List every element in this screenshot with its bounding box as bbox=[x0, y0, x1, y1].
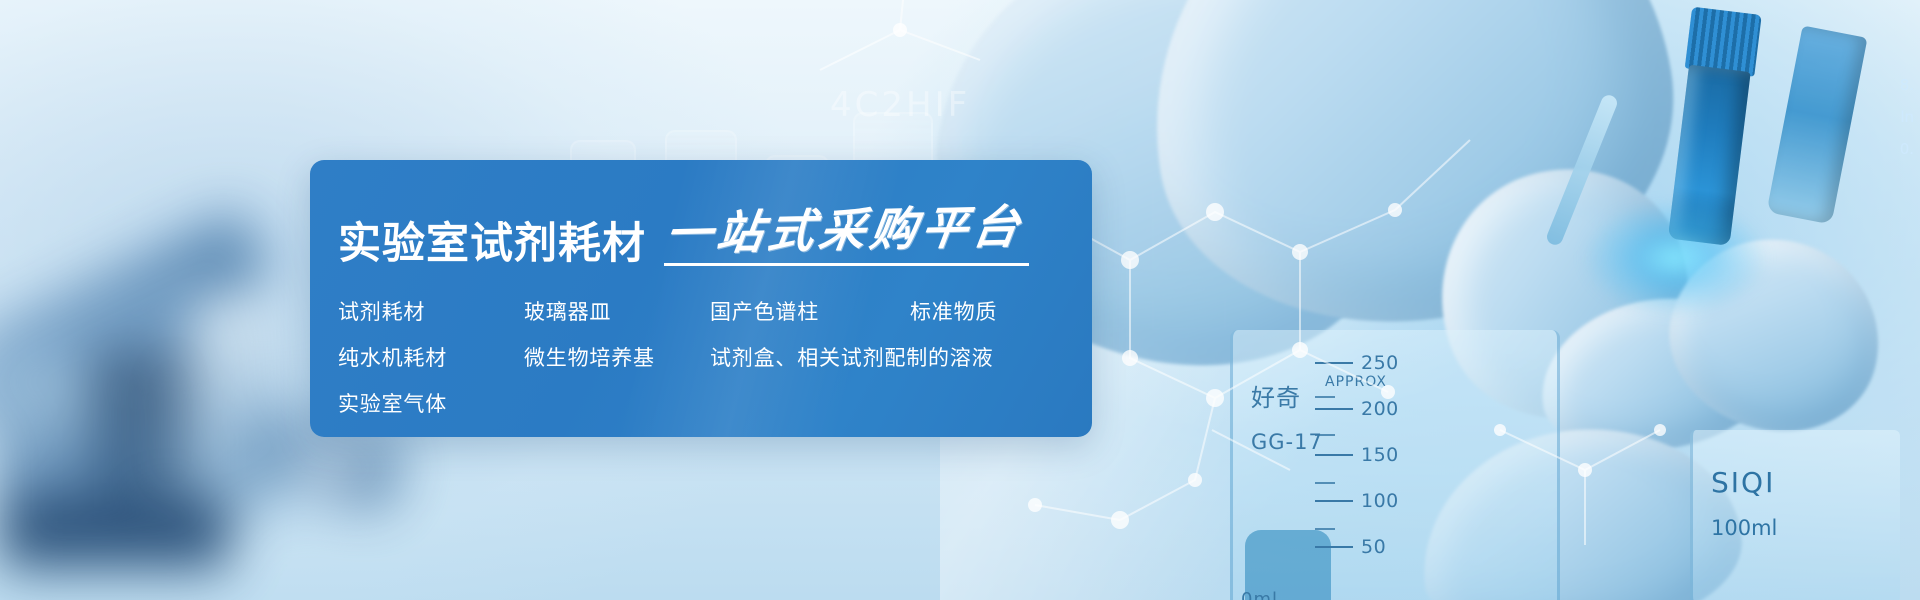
headline: 实验室试剂耗材 一站式采购平台 bbox=[338, 206, 1092, 266]
beaker-minor-tick bbox=[1315, 482, 1335, 484]
beaker-approx-label: APPROX bbox=[1325, 374, 1387, 390]
category-item-microbial-media[interactable]: 微生物培养基 bbox=[524, 342, 710, 372]
category-item-glassware[interactable]: 玻璃器皿 bbox=[524, 296, 710, 326]
category-item-kits-and-solutions[interactable]: 试剂盒、相关试剂配制的溶液 bbox=[710, 342, 993, 372]
vial-marking-1: ln bbox=[1900, 102, 1914, 132]
promo-card: 实验室试剂耗材 一站式采购平台 试剂耗材 玻璃器皿 国产色谱柱 标准物质 纯水机… bbox=[310, 160, 1092, 437]
vial-marking-2: 0. bbox=[1900, 134, 1914, 164]
headline-main-text: 实验室试剂耗材 bbox=[338, 223, 646, 266]
category-item-lab-gas[interactable]: 实验室气体 bbox=[338, 388, 524, 418]
secondary-beaker: SIQI 100ml bbox=[1690, 430, 1900, 600]
category-row: 试剂耗材 玻璃器皿 国产色谱柱 标准物质 bbox=[338, 296, 1092, 326]
headline-script-text: 一站式采购平台 bbox=[660, 202, 1033, 262]
beaker-graduation-150: 150 bbox=[1361, 444, 1399, 466]
category-row: 纯水机耗材 微生物培养基 试剂盒、相关试剂配制的溶液 bbox=[338, 342, 1092, 372]
beaker-brand-mark: 好奇 bbox=[1251, 378, 1301, 413]
microscope-shape bbox=[0, 500, 230, 570]
category-row: 实验室气体 bbox=[338, 388, 1092, 418]
beaker-graduation-250: 250 bbox=[1361, 352, 1399, 374]
beaker-volume-label: 0ml bbox=[1241, 589, 1278, 600]
beaker-brand-siqi: SIQI bbox=[1711, 466, 1775, 499]
vial-marking-0: 8. bbox=[1900, 70, 1914, 100]
graduated-beaker: 好奇 GG-17 0ml 250 APPROX 200 150 100 50 bbox=[1230, 330, 1560, 600]
microscope-lens-shape bbox=[300, 430, 374, 504]
lab-reagent-banner: 8. ln 0. 好奇 GG-17 0ml 250 APPROX 200 150… bbox=[0, 0, 1920, 600]
category-item-water-system-consumables[interactable]: 纯水机耗材 bbox=[338, 342, 524, 372]
headline-script-underline: 一站式采购平台 bbox=[664, 206, 1029, 266]
category-item-reagent-consumables[interactable]: 试剂耗材 bbox=[338, 296, 524, 326]
category-item-domestic-column[interactable]: 国产色谱柱 bbox=[710, 296, 910, 326]
beaker-graduation-200: 200 bbox=[1361, 398, 1399, 420]
beaker-volume-100ml: 100ml bbox=[1711, 516, 1777, 540]
category-list: 试剂耗材 玻璃器皿 国产色谱柱 标准物质 纯水机耗材 微生物培养基 试剂盒、相关… bbox=[338, 296, 1092, 418]
category-item-reference-material[interactable]: 标准物质 bbox=[910, 296, 997, 326]
beaker-graduation-50: 50 bbox=[1361, 536, 1386, 558]
beaker-minor-tick bbox=[1315, 434, 1335, 436]
beaker-glass-code: GG-17 bbox=[1251, 430, 1323, 454]
faint-vial-text: 4C2HIF bbox=[830, 85, 970, 125]
beaker-graduation-100: 100 bbox=[1361, 490, 1399, 512]
vial-glow bbox=[1580, 198, 1770, 318]
beaker-minor-tick bbox=[1315, 528, 1335, 530]
beaker-minor-tick bbox=[1315, 396, 1335, 398]
